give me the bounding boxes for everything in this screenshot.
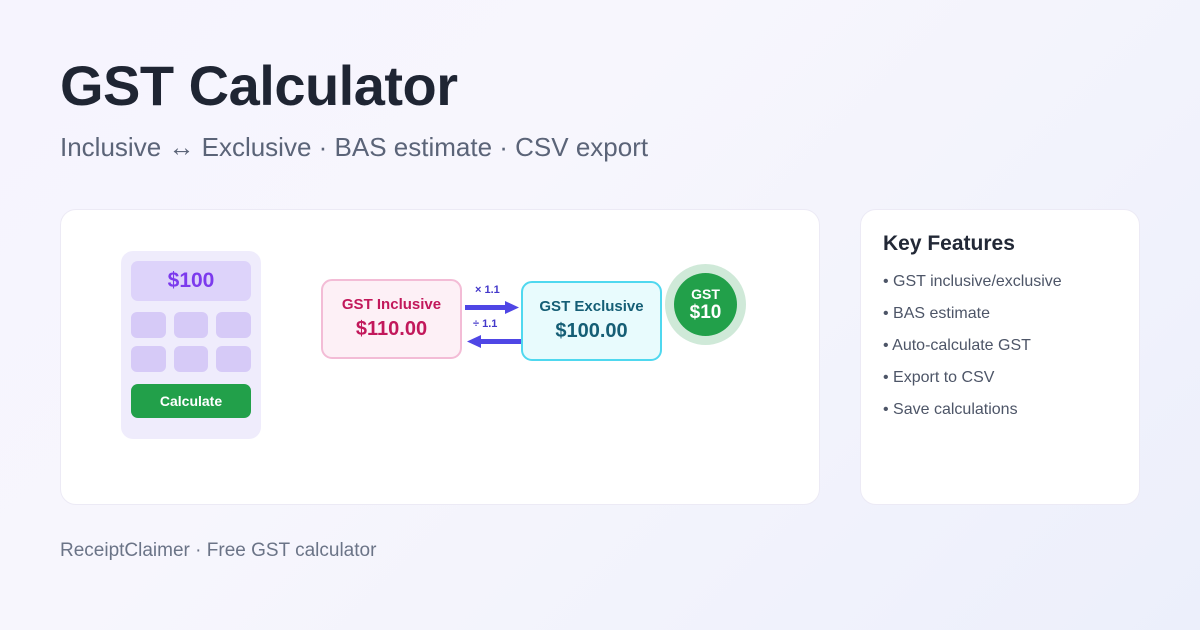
list-item: • Export to CSV [883, 370, 1117, 386]
illustration-card: $100 Calculate GST Inclusive $110.00 × 1… [60, 209, 820, 505]
header: GST Calculator Inclusive ↔ Exclusive · B… [60, 56, 940, 163]
arrow-forward-row: × 1.1 [465, 286, 525, 320]
gst-exclusive-label: GST Exclusive [539, 297, 643, 317]
list-item: • Save calculations [883, 402, 1117, 418]
calculator-key[interactable] [174, 312, 209, 338]
calculate-button[interactable]: Calculate [131, 384, 251, 418]
calculator-illustration: $100 Calculate [121, 251, 261, 439]
calculator-key[interactable] [131, 346, 166, 372]
calculator-key[interactable] [174, 346, 209, 372]
arrow-right-icon [465, 300, 521, 316]
calculator-keypad [131, 312, 251, 372]
gst-exclusive-box: GST Exclusive $100.00 [521, 281, 662, 361]
page-subtitle: Inclusive ↔ Exclusive · BAS estimate · C… [60, 132, 940, 163]
conversion-arrows: × 1.1 ÷ 1.1 [465, 286, 525, 354]
list-item: • GST inclusive/exclusive [883, 274, 1117, 290]
gst-amount-badge-ring: GST $10 [665, 264, 746, 345]
footer-text: ReceiptClaimer · Free GST calculator [60, 540, 376, 562]
calculator-key[interactable] [131, 312, 166, 338]
list-item: • BAS estimate [883, 306, 1117, 322]
key-features-panel: Key Features • GST inclusive/exclusive •… [860, 209, 1140, 505]
arrow-forward-caption: × 1.1 [475, 284, 500, 296]
key-features-title: Key Features [883, 232, 1117, 256]
page-title: GST Calculator [60, 56, 940, 116]
hero-banner: GST Calculator Inclusive ↔ Exclusive · B… [0, 0, 1200, 630]
gst-amount-badge: GST $10 [674, 273, 737, 336]
calculator-key[interactable] [216, 312, 251, 338]
gst-inclusive-label: GST Inclusive [342, 295, 441, 315]
calculator-key[interactable] [216, 346, 251, 372]
gst-inclusive-box: GST Inclusive $110.00 [321, 279, 462, 359]
calculate-button-label: Calculate [160, 393, 222, 409]
gst-badge-label: GST [691, 286, 720, 302]
gst-exclusive-value: $100.00 [555, 318, 627, 345]
calculator-display-value: $100 [168, 269, 215, 293]
arrow-back-caption: ÷ 1.1 [473, 318, 497, 330]
arrow-back-row: ÷ 1.1 [465, 320, 525, 354]
gst-badge-value: $10 [690, 302, 722, 324]
calculator-display: $100 [131, 261, 251, 301]
key-features-list: • GST inclusive/exclusive • BAS estimate… [883, 274, 1117, 418]
gst-inclusive-value: $110.00 [356, 316, 427, 343]
list-item: • Auto-calculate GST [883, 338, 1117, 354]
arrow-left-icon [465, 334, 521, 350]
